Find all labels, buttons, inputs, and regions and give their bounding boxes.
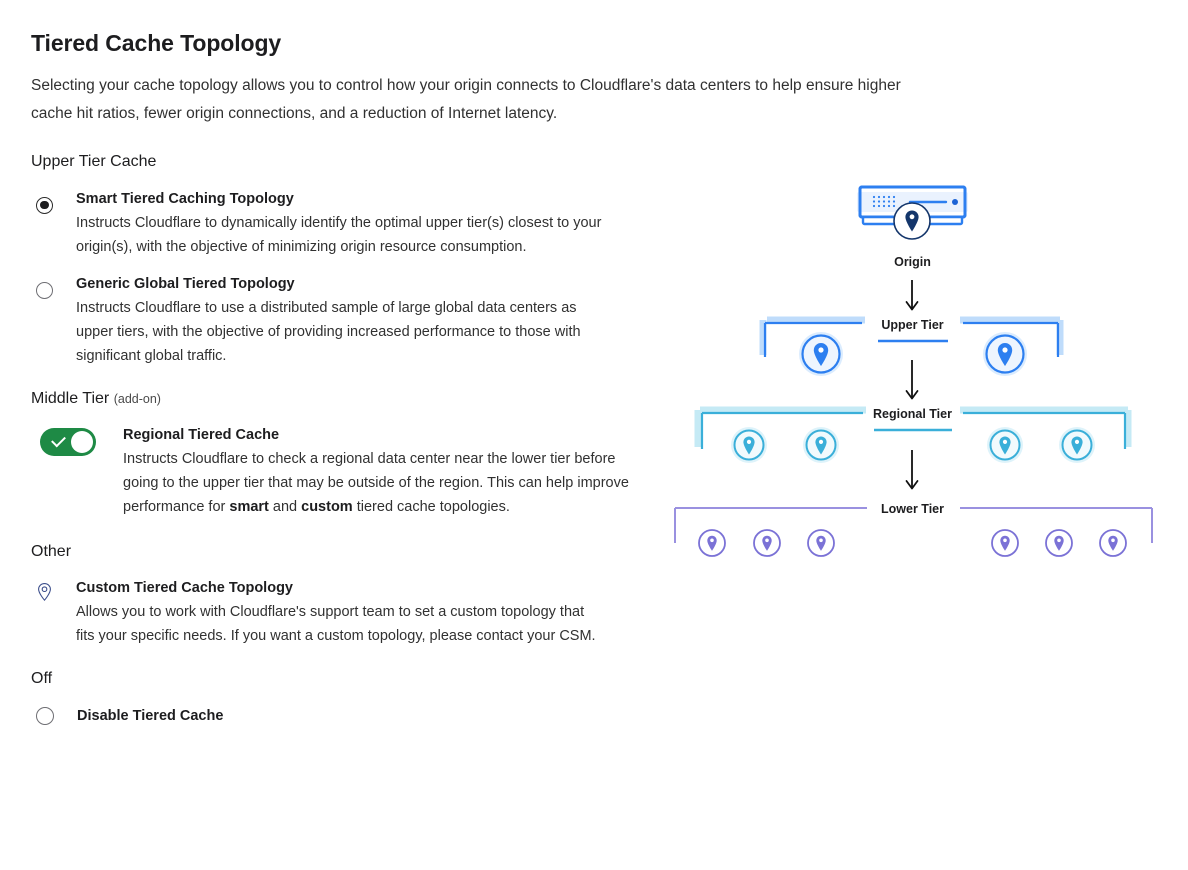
diagram-label-upper-tier: Upper Tier (660, 318, 1165, 332)
radio-smart-tiered-caching[interactable] (36, 197, 53, 214)
desc-bold-smart: smart (229, 499, 269, 515)
upper-tier-node (799, 332, 843, 376)
option-smart-tiered-caching[interactable]: Smart Tiered Caching Topology Instructs … (31, 189, 651, 259)
lower-tier-node (699, 530, 725, 556)
lower-tier-node (1046, 530, 1072, 556)
option-title: Generic Global Tiered Topology (76, 274, 606, 294)
page-description: Selecting your cache topology allows you… (31, 72, 931, 128)
check-icon (51, 432, 66, 447)
tiered-cache-panel: Tiered Cache Topology Selecting your cac… (31, 30, 651, 728)
option-custom-tiered-cache[interactable]: Custom Tiered Cache Topology Allows you … (31, 578, 651, 648)
diagram-svg (660, 175, 1170, 585)
desc-part-3: tiered cache topologies. (353, 499, 510, 515)
down-arrow-icon (907, 450, 918, 489)
section-upper-tier: Upper Tier Cache Smart Tiered Caching To… (31, 153, 651, 368)
option-description: Instructs Cloudflare to dynamically iden… (76, 211, 642, 259)
regional-tier-node (731, 427, 767, 463)
lower-tier-node (808, 530, 834, 556)
upper-tier-node (983, 332, 1027, 376)
option-title: Regional Tiered Cache (123, 425, 648, 445)
option-title: Custom Tiered Cache Topology (76, 578, 606, 598)
option-regional-tiered-cache[interactable]: Regional Tiered Cache Instructs Cloudfla… (31, 425, 651, 519)
option-description: Allows you to work with Cloudflare's sup… (76, 600, 606, 648)
regional-tier-node (803, 427, 839, 463)
origin-pin-icon (894, 203, 930, 239)
option-disable-tiered-cache[interactable]: Disable Tiered Cache (31, 706, 651, 728)
toggle-knob (71, 431, 93, 453)
section-other: Other Custom Tiered Cache Topology Allow… (31, 543, 651, 648)
option-title: Disable Tiered Cache (77, 706, 223, 726)
option-title: Smart Tiered Caching Topology (76, 189, 642, 209)
toggle-regional-tiered-cache[interactable] (40, 428, 96, 456)
lower-tier-node (992, 530, 1018, 556)
desc-bold-custom: custom (301, 499, 353, 515)
regional-tier-node (1059, 427, 1095, 463)
section-heading-upper-tier: Upper Tier Cache (31, 153, 651, 171)
down-arrow-icon (907, 280, 918, 310)
diagram-label-regional-tier: Regional Tier (660, 407, 1165, 421)
middle-tier-heading-text: Middle Tier (31, 390, 109, 407)
page-title: Tiered Cache Topology (31, 30, 651, 58)
map-pin-icon (36, 582, 53, 607)
regional-tier-node (987, 427, 1023, 463)
option-generic-global-tiered[interactable]: Generic Global Tiered Topology Instructs… (31, 274, 651, 368)
lower-tier-node (754, 530, 780, 556)
diagram-label-lower-tier: Lower Tier (660, 502, 1165, 516)
section-heading-other: Other (31, 543, 651, 561)
desc-part-2: and (269, 499, 301, 515)
radio-generic-global-tiered[interactable] (36, 282, 53, 299)
down-arrow-icon (907, 360, 918, 399)
diagram-label-origin: Origin (660, 255, 1165, 269)
middle-tier-addon-label: (add-on) (114, 392, 161, 406)
option-description: Instructs Cloudflare to check a regional… (123, 447, 648, 519)
tiered-cache-diagram: Origin Upper Tier Regional Tier Lower Ti… (660, 175, 1170, 585)
lower-tier-node (1100, 530, 1126, 556)
section-off: Off Disable Tiered Cache (31, 670, 651, 728)
section-heading-off: Off (31, 670, 651, 688)
section-heading-middle-tier: Middle Tier (add-on) (31, 390, 651, 408)
option-description: Instructs Cloudflare to use a distribute… (76, 296, 606, 368)
section-middle-tier: Middle Tier (add-on) Regional Tiered Cac… (31, 390, 651, 519)
radio-disable-tiered-cache[interactable] (36, 707, 54, 725)
